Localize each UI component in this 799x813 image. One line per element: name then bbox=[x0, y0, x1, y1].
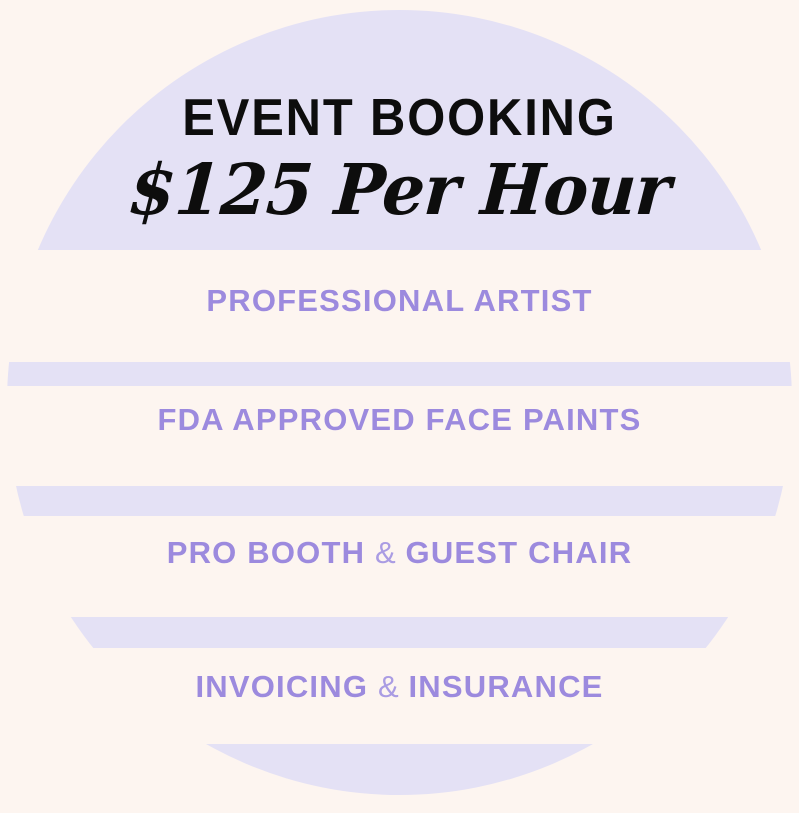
feature-item-2: FDA APPROVED FACE PAINTS bbox=[0, 404, 799, 435]
feature-3-text-after: GUEST CHAIR bbox=[396, 535, 633, 570]
feature-4-text: INVOICING bbox=[195, 669, 378, 704]
feature-4-ampersand: & bbox=[378, 669, 399, 704]
feature-item-4: INVOICING & INSURANCE bbox=[0, 671, 799, 702]
feature-item-1: PROFESSIONAL ARTIST bbox=[0, 285, 799, 316]
feature-3-text: PRO BOOTH bbox=[167, 535, 375, 570]
feature-2-text: FDA APPROVED FACE PAINTS bbox=[157, 402, 641, 437]
price-headline: $125 Per Hour bbox=[14, 155, 786, 225]
pricing-poster: EVENT BOOKING $125 Per Hour PROFESSIONAL… bbox=[0, 0, 799, 813]
feature-3-ampersand: & bbox=[375, 535, 396, 570]
feature-item-3: PRO BOOTH & GUEST CHAIR bbox=[0, 537, 799, 568]
poster-content: EVENT BOOKING $125 Per Hour PROFESSIONAL… bbox=[0, 0, 799, 813]
feature-4-text-after: INSURANCE bbox=[399, 669, 604, 704]
feature-1-text: PROFESSIONAL ARTIST bbox=[206, 283, 592, 318]
page-title: EVENT BOOKING bbox=[24, 92, 775, 144]
